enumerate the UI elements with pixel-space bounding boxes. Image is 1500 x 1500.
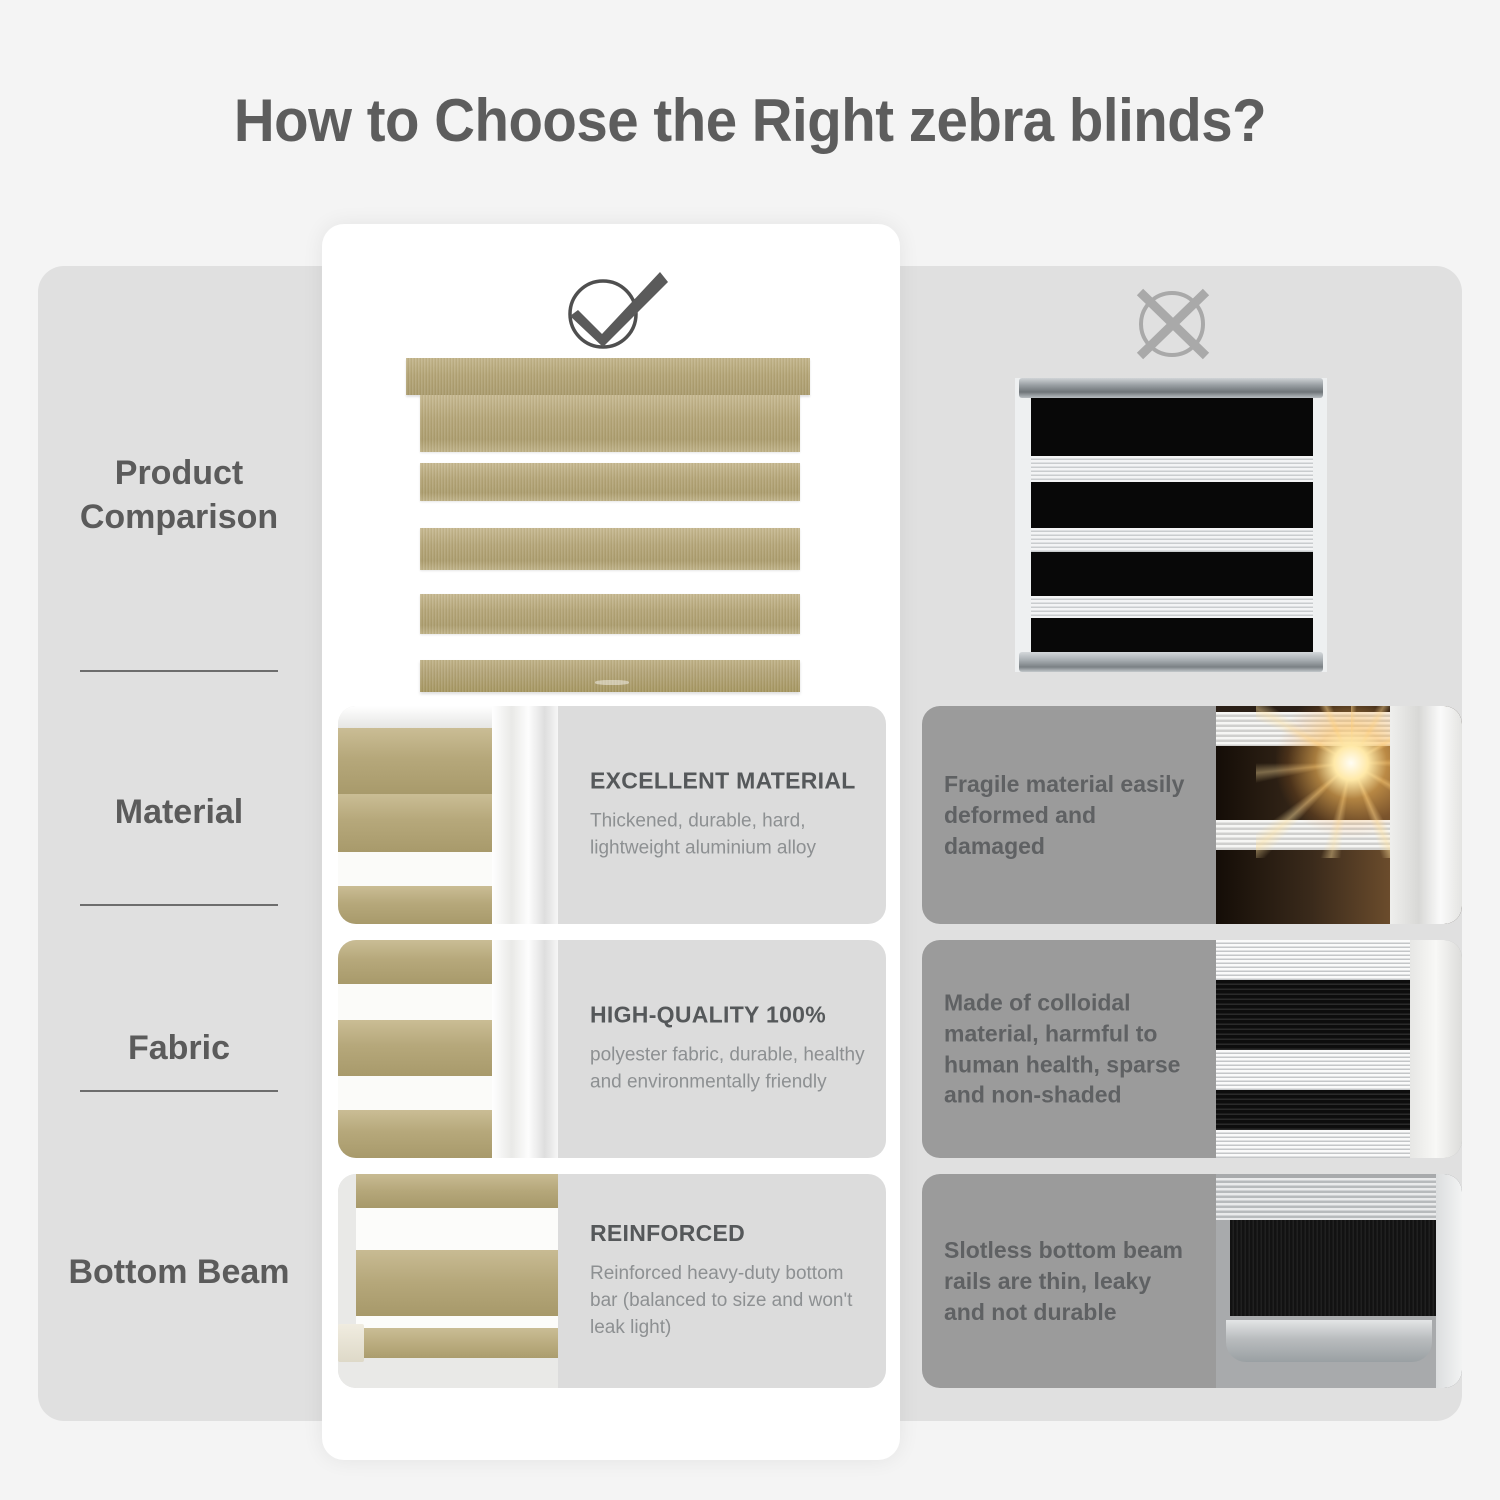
blind-headrail — [1019, 378, 1323, 398]
good-heading-material: EXCELLENT MATERIAL — [590, 768, 868, 795]
sparse-black-sheer-fabric — [1216, 940, 1462, 1158]
infographic-root: How to Choose the Right zebra blinds? Pr… — [0, 0, 1500, 1500]
reinforced-beige-bottom-bar — [338, 1174, 558, 1388]
check-circle-icon — [556, 268, 676, 352]
row-label-bottom-beam: Bottom Beam — [38, 1218, 320, 1328]
label-divider-2 — [80, 904, 278, 906]
row-label-product-comparison: Product Comparison — [38, 426, 320, 566]
thin-slotless-bottom-rail — [1216, 1174, 1462, 1388]
black-zebra-blind-product — [1015, 378, 1327, 672]
blind-slat — [420, 463, 800, 501]
blind-dark-band — [1031, 552, 1313, 596]
blind-sheer-band — [1031, 596, 1313, 618]
blind-dark-band — [1031, 482, 1313, 528]
blind-slat — [420, 395, 800, 452]
row-label-material: Material — [38, 778, 320, 848]
good-card-fabric: HIGH-QUALITY 100% polyester fabric, dura… — [338, 940, 886, 1158]
good-heading-bottom-beam: REINFORCED — [590, 1220, 868, 1247]
good-body-material: Thickened, durable, hard, lightweight al… — [590, 809, 868, 863]
good-body-bottom-beam: Reinforced heavy-duty bottom bar (balanc… — [590, 1261, 868, 1342]
bad-card-fabric: Made of colloidal material, harmful to h… — [922, 940, 1462, 1158]
blind-slat — [420, 528, 800, 570]
blind-bottom-bar — [420, 660, 800, 692]
row-label-column: Product Comparison Material Fabric Botto… — [38, 266, 320, 1421]
page-title: How to Choose the Right zebra blinds? — [45, 86, 1455, 155]
bad-text-fabric: Made of colloidal material, harmful to h… — [944, 987, 1196, 1110]
sun-flare-through-damaged-blind — [1216, 706, 1462, 924]
blind-bottom-rail — [1019, 652, 1323, 672]
bad-text-bottom-beam: Slotless bottom beam rails are thin, lea… — [944, 1235, 1196, 1327]
good-heading-fabric: HIGH-QUALITY 100% — [590, 1002, 868, 1029]
cross-circle-icon — [1124, 282, 1220, 362]
bad-card-bottom-beam: Slotless bottom beam rails are thin, lea… — [922, 1174, 1462, 1388]
good-card-material: EXCELLENT MATERIAL Thickened, durable, h… — [338, 706, 886, 924]
beige-blind-fabric-closeup — [338, 940, 558, 1158]
label-divider-1 — [80, 670, 278, 672]
label-divider-3 — [80, 1090, 278, 1092]
blind-sheer-band — [1031, 456, 1313, 482]
blind-dark-band — [1031, 618, 1313, 652]
beige-zebra-blind-product — [406, 358, 810, 698]
blind-dark-band — [1031, 398, 1313, 456]
good-card-bottom-beam: REINFORCED Reinforced heavy-duty bottom … — [338, 1174, 886, 1388]
beige-blind-white-window-frame — [338, 706, 558, 924]
row-label-fabric: Fabric — [38, 1014, 320, 1084]
blind-headrail — [406, 358, 810, 395]
bad-card-material: Fragile material easily deformed and dam… — [922, 706, 1462, 924]
good-body-fabric: polyester fabric, durable, healthy and e… — [590, 1043, 868, 1097]
blind-sheer-band — [1031, 528, 1313, 552]
blind-slat — [420, 594, 800, 634]
bad-text-material: Fragile material easily deformed and dam… — [944, 769, 1196, 861]
